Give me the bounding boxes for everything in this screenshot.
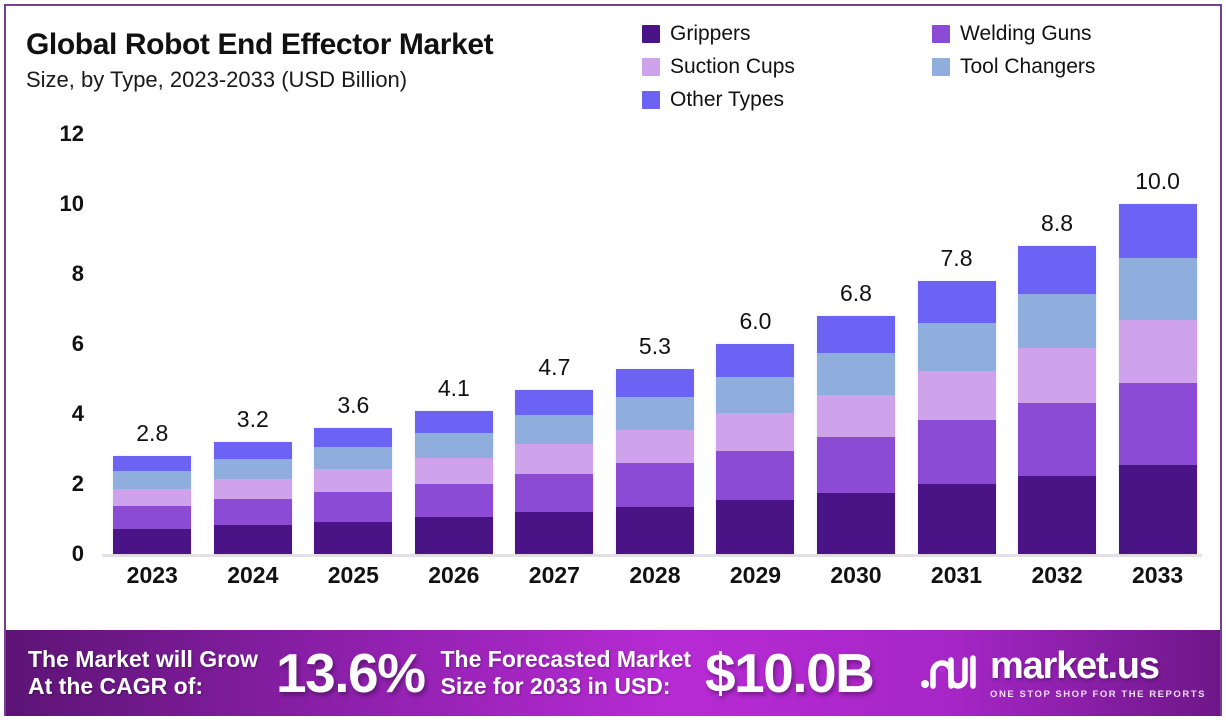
y-axis-tick-8: 8 <box>72 261 84 287</box>
x-axis: 2023202420252026202720282029203020312032… <box>102 562 1208 602</box>
bar-segment-tool-changers[interactable] <box>817 353 895 395</box>
bar-segment-welding-guns[interactable] <box>716 451 794 500</box>
bar-segment-welding-guns[interactable] <box>113 506 191 529</box>
bar-segment-other-types[interactable] <box>918 281 996 323</box>
cagr-value: 13.6% <box>276 646 424 701</box>
bar-segment-grippers[interactable] <box>918 484 996 554</box>
bar-segment-other-types[interactable] <box>1018 246 1096 294</box>
chart-legend: GrippersWelding GunsSuction CupsTool Cha… <box>642 22 1222 112</box>
logo-text-wrap: market.us ONE STOP SHOP FOR THE REPORTS <box>990 647 1206 700</box>
bar-segment-tool-changers[interactable] <box>214 459 292 479</box>
stacked-bar-2029[interactable] <box>716 344 794 554</box>
bar-segment-tool-changers[interactable] <box>515 415 593 444</box>
legend-item-label: Tool Changers <box>960 55 1095 79</box>
bar-segment-tool-changers[interactable] <box>314 447 392 469</box>
bar-segment-tool-changers[interactable] <box>1119 258 1197 319</box>
bar-segment-grippers[interactable] <box>515 512 593 554</box>
bar-total-label-2023: 2.8 <box>136 420 168 447</box>
bar-segment-other-types[interactable] <box>716 344 794 377</box>
bar-total-label-2025: 3.6 <box>337 392 369 419</box>
bar-total-label-2026: 4.1 <box>438 375 470 402</box>
legend-swatch-icon <box>642 58 660 76</box>
chart-plot-area: 024681012 2.83.23.64.14.75.36.06.87.88.8… <box>6 134 1220 612</box>
y-axis-tick-0: 0 <box>72 541 84 567</box>
bar-segment-other-types[interactable] <box>314 428 392 447</box>
stacked-bar-2032[interactable] <box>1018 246 1096 554</box>
stacked-bar-2028[interactable] <box>616 369 694 555</box>
bar-group-2023[interactable]: 2.8 <box>107 134 197 554</box>
bar-group-2025[interactable]: 3.6 <box>308 134 398 554</box>
legend-swatch-icon <box>642 25 660 43</box>
stacked-bar-2030[interactable] <box>817 316 895 554</box>
stacked-bar-2024[interactable] <box>214 442 292 554</box>
bar-segment-other-types[interactable] <box>113 456 191 471</box>
summary-banner: The Market will Grow At the CAGR of: 13.… <box>6 630 1220 716</box>
stacked-bar-2031[interactable] <box>918 281 996 554</box>
bar-segment-grippers[interactable] <box>415 517 493 554</box>
bar-total-label-2024: 3.2 <box>237 406 269 433</box>
bar-group-2027[interactable]: 4.7 <box>509 134 599 554</box>
forecast-value: $10.0B <box>705 646 873 701</box>
bar-group-2031[interactable]: 7.8 <box>912 134 1002 554</box>
bar-total-label-2029: 6.0 <box>739 308 771 335</box>
bar-segment-suction-cups[interactable] <box>716 413 794 451</box>
legend-item-suction-cups[interactable]: Suction Cups <box>642 55 932 79</box>
bar-segment-grippers[interactable] <box>716 500 794 554</box>
x-axis-tick-2030: 2030 <box>811 562 901 602</box>
bar-total-label-2030: 6.8 <box>840 280 872 307</box>
bar-segment-tool-changers[interactable] <box>918 323 996 371</box>
bar-segment-other-types[interactable] <box>415 411 493 433</box>
cagr-caption-line1: The Market will Grow <box>28 646 258 672</box>
legend-swatch-icon <box>642 91 660 109</box>
forecast-caption-line1: The Forecasted Market <box>441 646 692 672</box>
market-us-logo[interactable]: market.us ONE STOP SHOP FOR THE REPORTS <box>920 647 1206 700</box>
x-axis-tick-2023: 2023 <box>107 562 197 602</box>
bar-segment-other-types[interactable] <box>515 390 593 416</box>
bar-segment-suction-cups[interactable] <box>1018 348 1096 403</box>
y-axis-tick-6: 6 <box>72 331 84 357</box>
bar-segment-tool-changers[interactable] <box>716 377 794 414</box>
bar-segment-tool-changers[interactable] <box>1018 294 1096 348</box>
bar-group-2028[interactable]: 5.3 <box>610 134 700 554</box>
market-us-mark-icon <box>920 650 980 697</box>
legend-item-tool-changers[interactable]: Tool Changers <box>932 55 1222 79</box>
stacked-bar-2033[interactable] <box>1119 204 1197 554</box>
bar-segment-welding-guns[interactable] <box>415 484 493 518</box>
stacked-bar-2027[interactable] <box>515 390 593 555</box>
bar-segment-other-types[interactable] <box>817 316 895 353</box>
bar-group-2032[interactable]: 8.8 <box>1012 134 1102 554</box>
stacked-bar-2025[interactable] <box>314 428 392 554</box>
x-axis-tick-2024: 2024 <box>208 562 298 602</box>
bar-group-2029[interactable]: 6.0 <box>710 134 800 554</box>
x-axis-tick-2031: 2031 <box>912 562 1002 602</box>
page-title: Global Robot End Effector Market <box>26 28 493 62</box>
title-block: Global Robot End Effector Market Size, b… <box>26 28 493 93</box>
legend-item-label: Suction Cups <box>670 55 795 79</box>
bar-segment-grippers[interactable] <box>214 525 292 554</box>
logo-name: market.us <box>990 647 1206 685</box>
bar-segment-other-types[interactable] <box>1119 204 1197 258</box>
bar-total-label-2033: 10.0 <box>1135 168 1180 195</box>
cagr-caption: The Market will Grow At the CAGR of: <box>28 646 258 699</box>
bar-group-2024[interactable]: 3.2 <box>208 134 298 554</box>
stacked-bar-2023[interactable] <box>113 456 191 554</box>
legend-swatch-icon <box>932 58 950 76</box>
bar-segment-welding-guns[interactable] <box>515 474 593 513</box>
bar-segment-grippers[interactable] <box>1119 465 1197 554</box>
x-axis-tick-2027: 2027 <box>509 562 599 602</box>
bar-segment-suction-cups[interactable] <box>113 489 191 507</box>
bar-segment-welding-guns[interactable] <box>1119 383 1197 465</box>
bar-segment-suction-cups[interactable] <box>1119 320 1197 383</box>
bar-segment-welding-guns[interactable] <box>817 437 895 493</box>
x-axis-baseline <box>102 554 1202 557</box>
legend-item-other-types[interactable]: Other Types <box>642 88 932 112</box>
bar-segment-suction-cups[interactable] <box>918 371 996 420</box>
x-axis-tick-2029: 2029 <box>710 562 800 602</box>
bar-segment-welding-guns[interactable] <box>214 499 292 525</box>
bar-total-label-2032: 8.8 <box>1041 210 1073 237</box>
stacked-bar-2026[interactable] <box>415 411 493 555</box>
y-axis-tick-4: 4 <box>72 401 84 427</box>
infographic-page: Global Robot End Effector Market Size, b… <box>0 0 1226 720</box>
legend-item-label: Welding Guns <box>960 22 1092 46</box>
bar-segment-suction-cups[interactable] <box>515 444 593 474</box>
bar-segment-other-types[interactable] <box>616 369 694 398</box>
bar-group-2026[interactable]: 4.1 <box>409 134 499 554</box>
bar-segment-grippers[interactable] <box>113 529 191 554</box>
bar-segment-suction-cups[interactable] <box>616 430 694 463</box>
bar-segment-suction-cups[interactable] <box>817 395 895 438</box>
y-axis: 024681012 <box>6 134 102 554</box>
bar-segment-suction-cups[interactable] <box>214 479 292 499</box>
y-axis-tick-12: 12 <box>60 121 84 147</box>
bar-total-label-2027: 4.7 <box>538 354 570 381</box>
bar-group-2033[interactable]: 10.0 <box>1113 134 1203 554</box>
bar-segment-tool-changers[interactable] <box>113 471 191 488</box>
bar-segment-suction-cups[interactable] <box>415 458 493 484</box>
bar-segment-welding-guns[interactable] <box>314 492 392 522</box>
x-axis-tick-2026: 2026 <box>409 562 499 602</box>
bar-segment-grippers[interactable] <box>1018 476 1096 554</box>
forecast-caption: The Forecasted Market Size for 2033 in U… <box>441 646 692 699</box>
page-subtitle: Size, by Type, 2023-2033 (USD Billion) <box>26 67 493 93</box>
y-axis-tick-2: 2 <box>72 471 84 497</box>
x-axis-tick-2032: 2032 <box>1012 562 1102 602</box>
x-axis-tick-2028: 2028 <box>610 562 700 602</box>
bar-segment-other-types[interactable] <box>214 442 292 459</box>
bar-group-2030[interactable]: 6.8 <box>811 134 901 554</box>
bar-segment-welding-guns[interactable] <box>918 420 996 484</box>
cagr-caption-line2: At the CAGR of: <box>28 673 203 699</box>
bar-series-container: 2.83.23.64.14.75.36.06.87.88.810.0 <box>102 134 1208 554</box>
legend-item-welding-guns[interactable]: Welding Guns <box>932 22 1222 46</box>
y-axis-tick-10: 10 <box>60 191 84 217</box>
x-axis-tick-2033: 2033 <box>1113 562 1203 602</box>
bar-segment-grippers[interactable] <box>314 522 392 554</box>
bar-total-label-2031: 7.8 <box>941 245 973 272</box>
legend-swatch-icon <box>932 25 950 43</box>
bar-segment-welding-guns[interactable] <box>1018 403 1096 475</box>
chart-header: Global Robot End Effector Market Size, b… <box>6 6 1220 134</box>
bar-segment-grippers[interactable] <box>817 493 895 554</box>
bar-segment-tool-changers[interactable] <box>616 397 694 430</box>
forecast-caption-line2: Size for 2033 in USD: <box>441 673 671 699</box>
chart-card: Global Robot End Effector Market Size, b… <box>4 4 1222 716</box>
bar-segment-suction-cups[interactable] <box>314 469 392 492</box>
x-axis-tick-2025: 2025 <box>308 562 398 602</box>
bar-total-label-2028: 5.3 <box>639 333 671 360</box>
legend-item-label: Other Types <box>670 88 784 112</box>
bar-segment-welding-guns[interactable] <box>616 463 694 507</box>
bar-segment-tool-changers[interactable] <box>415 433 493 458</box>
bar-segment-grippers[interactable] <box>616 507 694 554</box>
legend-item-label: Grippers <box>670 22 751 46</box>
logo-tagline: ONE STOP SHOP FOR THE REPORTS <box>990 689 1206 700</box>
legend-item-grippers[interactable]: Grippers <box>642 22 932 46</box>
